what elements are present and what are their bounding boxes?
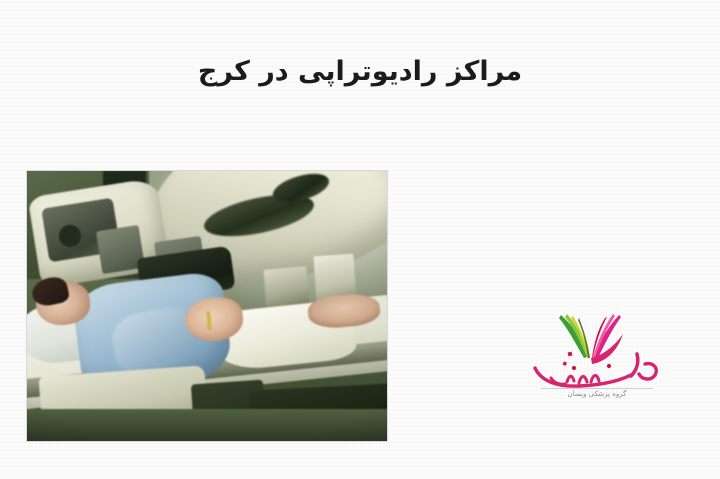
logo-wordmark	[527, 348, 667, 392]
logo-divider	[541, 388, 653, 389]
radiotherapy-photo	[27, 171, 387, 441]
photo-floor	[27, 409, 387, 441]
page-title: مراکز رادیوتراپی در کرج	[0, 56, 720, 87]
photo-scene	[27, 171, 387, 441]
brand-logo[interactable]: گروه پزشکی ویسان	[527, 312, 667, 412]
logo-subtitle: گروه پزشکی ویسان	[527, 390, 667, 398]
photo-shelf	[263, 266, 309, 307]
slide-canvas: مراکز رادیوتراپی در کرج	[0, 0, 720, 479]
